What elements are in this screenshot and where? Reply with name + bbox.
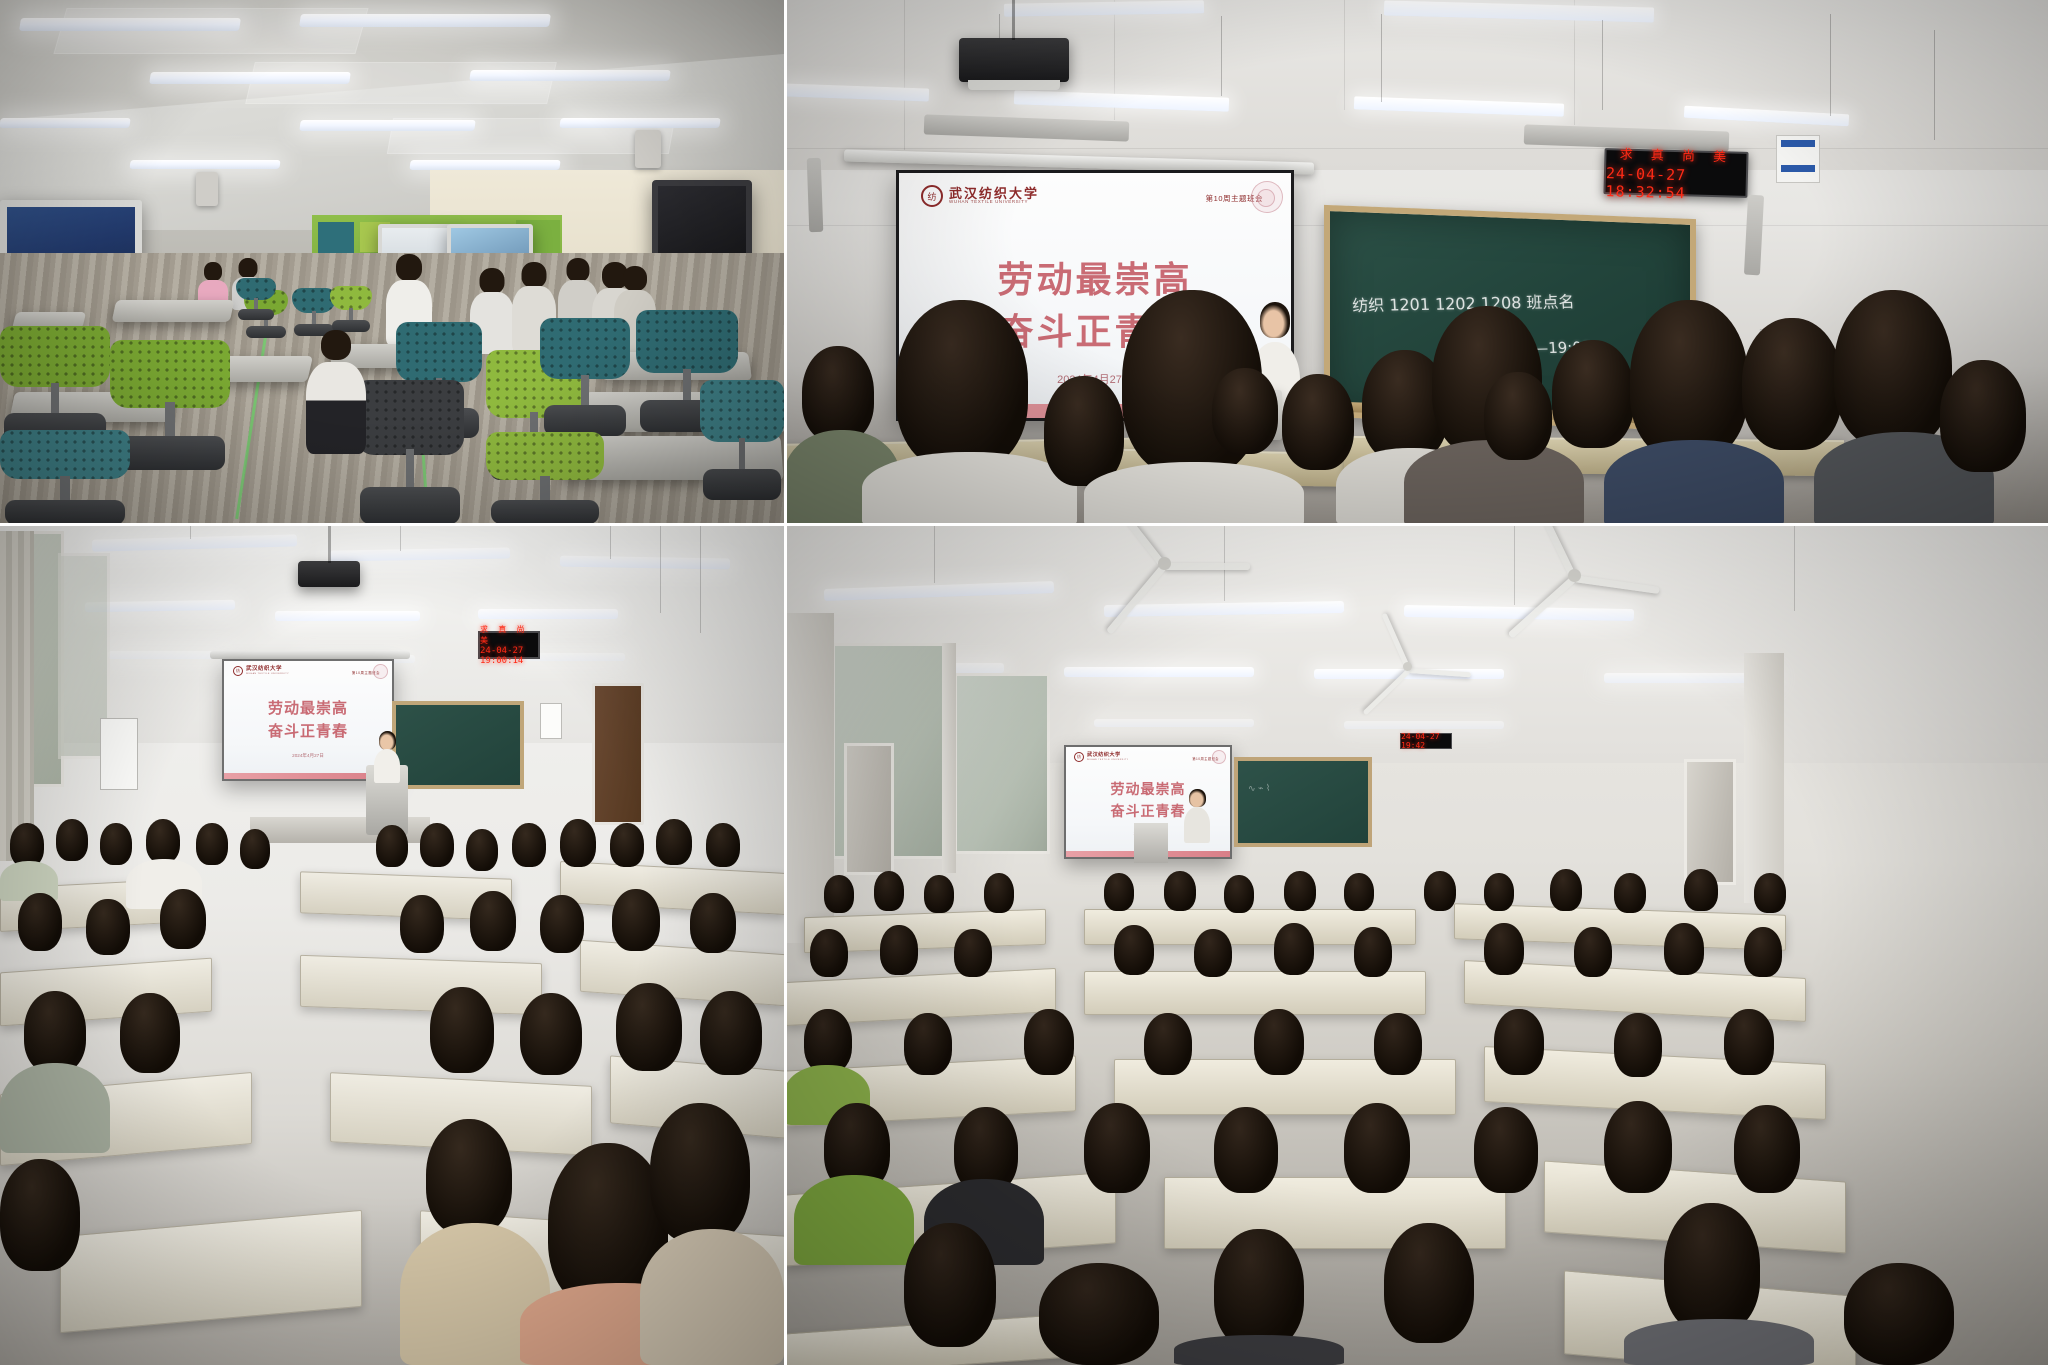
panel-wide-hall: 纺 武汉纺织大学 WUHAN TEXTILE UNIVERSITY 第10周主题… (0, 523, 784, 1365)
panel-large-hall: 纺 武汉纺织大学 WUHAN TEXTILE UNIVERSITY 第10周主题… (784, 523, 2048, 1365)
vignette (784, 0, 2048, 523)
collage-divider-horizontal (0, 523, 2048, 526)
panel-smart-classroom (0, 0, 784, 523)
photo-collage: 纺 武汉纺织大学 WUHAN TEXTILE UNIVERSITY 第10周主题… (0, 0, 2048, 1365)
vignette (0, 0, 784, 523)
vignette (0, 523, 784, 1365)
collage-divider-vertical (784, 0, 787, 1365)
panel-lecture-projection: 纺 武汉纺织大学 WUHAN TEXTILE UNIVERSITY 第10周主题… (784, 0, 2048, 523)
vignette (784, 523, 2048, 1365)
